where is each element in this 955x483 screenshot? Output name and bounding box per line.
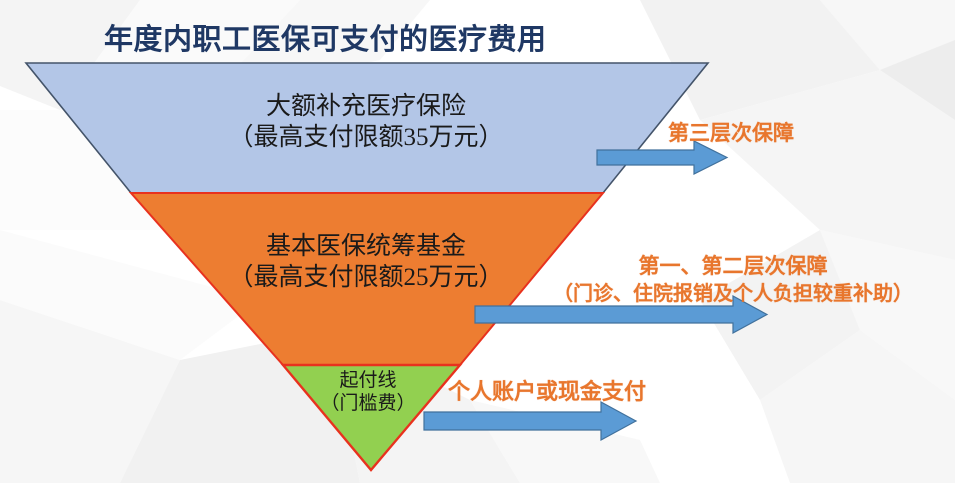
funnel-diagram <box>0 0 955 483</box>
tier-self-pay-arrow-icon <box>424 402 636 440</box>
funnel-layer-supplementary-insurance[interactable] <box>26 63 708 193</box>
tier-1-2-arrow-icon <box>475 296 767 333</box>
funnel-layer-basic-pooled-fund[interactable] <box>131 193 603 365</box>
slide-canvas: 年度内职工医保可支付的医疗费用 大额补充医疗保险 （最高支付限额35万元） 基本… <box>0 0 955 483</box>
